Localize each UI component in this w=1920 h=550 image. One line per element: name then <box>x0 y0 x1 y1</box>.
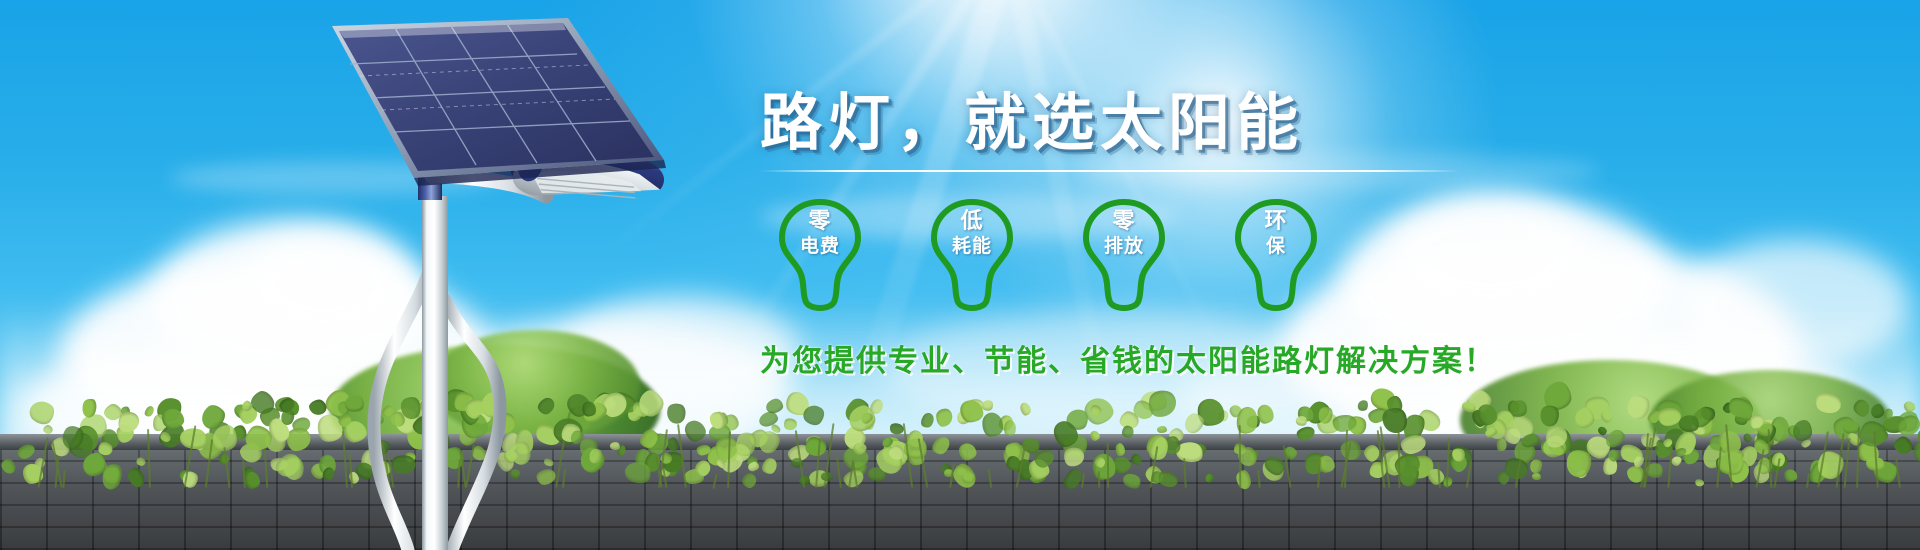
banner-copy: 路灯，就选太阳能 零电费低耗能零排放环保 为您提供专业、节能、省钱的太阳能路灯解… <box>760 92 1760 380</box>
feature-badge-3[interactable]: 零排放 <box>1076 198 1172 314</box>
feature-badge-word: 排放 <box>1104 236 1144 257</box>
divider <box>760 170 1460 172</box>
feature-badge-1[interactable]: 零电费 <box>772 198 868 314</box>
feature-badge-label: 零电费 <box>772 208 868 258</box>
feature-badge-top: 环 <box>1228 208 1324 235</box>
feature-badge-word: 保 <box>1266 236 1286 257</box>
feature-badge-label: 低耗能 <box>924 208 1020 258</box>
feature-badge-top: 零 <box>772 208 868 235</box>
wall-cap <box>0 434 1920 450</box>
tagline: 为您提供专业、节能、省钱的太阳能路灯解决方案！ <box>760 336 1760 380</box>
feature-badge-word: 耗能 <box>952 236 992 257</box>
feature-badge-2[interactable]: 低耗能 <box>924 198 1020 314</box>
tiled-wall <box>0 438 1920 550</box>
page-title: 路灯，就选太阳能 <box>760 92 1760 156</box>
feature-badge-4[interactable]: 环保 <box>1228 198 1324 314</box>
feature-badge-top: 零 <box>1076 208 1172 235</box>
feature-badge-top: 低 <box>924 208 1020 235</box>
feature-badge-group: 零电费低耗能零排放环保 <box>760 198 1760 314</box>
solar-street-lamp-banner: 路灯，就选太阳能 零电费低耗能零排放环保 为您提供专业、节能、省钱的太阳能路灯解… <box>0 0 1920 550</box>
feature-badge-label: 环保 <box>1228 208 1324 258</box>
feature-badge-label: 零排放 <box>1076 208 1172 258</box>
tree-foliage-left-upper <box>430 330 640 440</box>
feature-badge-word: 电费 <box>800 236 840 257</box>
